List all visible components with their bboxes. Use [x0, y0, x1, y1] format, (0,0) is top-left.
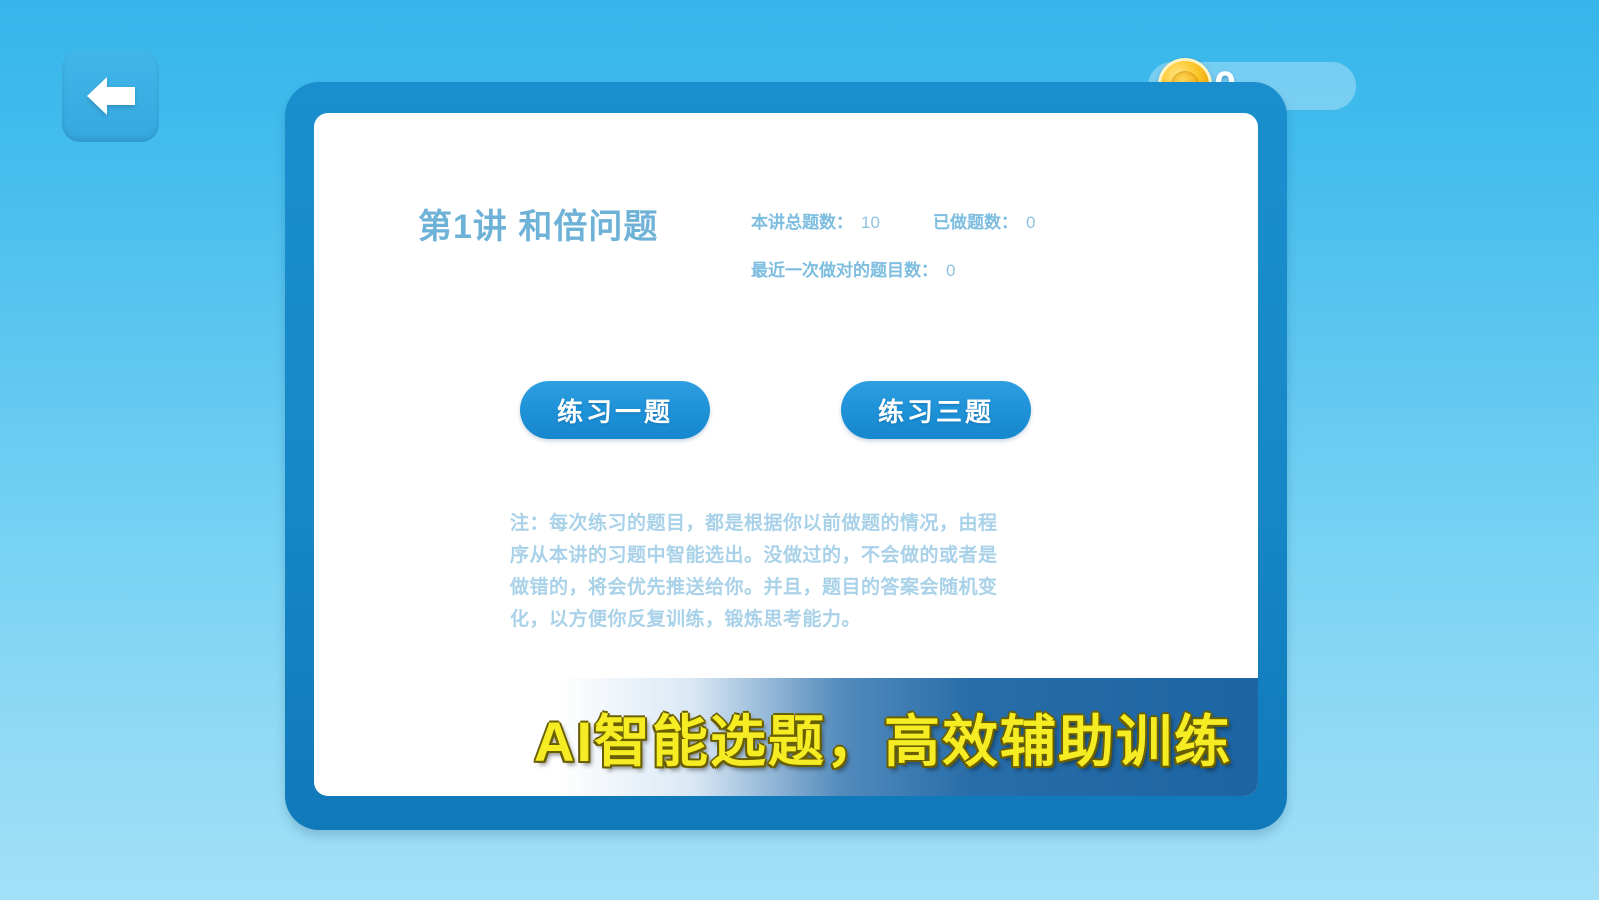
- promo-banner: AI智能选题，高效辅助训练: [314, 678, 1258, 796]
- stat-total-value: 10: [861, 213, 880, 232]
- promo-banner-text: AI智能选题，高效辅助训练: [534, 697, 1232, 778]
- practice-one-question-button[interactable]: 练习一题: [520, 381, 710, 439]
- stat-done-value: 0: [1026, 213, 1035, 232]
- stat-recent-correct: 最近一次做对的题目数：0: [751, 256, 955, 281]
- stat-recent-value: 0: [946, 261, 955, 280]
- arrow-left-icon: [83, 73, 139, 119]
- page-title: 第1讲 和倍问题: [418, 199, 658, 248]
- lesson-card: 第1讲 和倍问题 本讲总题数：10 已做题数：0 最近一次做对的题目数：0 练习…: [285, 82, 1287, 830]
- note-text: 注：每次练习的题目，都是根据你以前做题的情况，由程 序从本讲的习题中智能选出。没…: [510, 508, 1090, 636]
- back-button[interactable]: [62, 50, 159, 142]
- stat-total-label: 本讲总题数：: [751, 213, 853, 232]
- lesson-card-inner: 第1讲 和倍问题 本讲总题数：10 已做题数：0 最近一次做对的题目数：0 练习…: [314, 113, 1258, 796]
- stat-done-questions: 已做题数：0: [933, 208, 1035, 233]
- note-line: 做错的，将会优先推送给你。并且，题目的答案会随机变: [510, 572, 1090, 604]
- app-screen: 0 第1讲 和倍问题 本讲总题数：10 已做题数：0 最近一次做对的题目数：0 …: [0, 0, 1599, 900]
- stat-total-questions: 本讲总题数：10: [751, 208, 880, 233]
- note-line: 注：每次练习的题目，都是根据你以前做题的情况，由程: [510, 508, 1090, 540]
- stat-done-label: 已做题数：: [933, 213, 1018, 232]
- note-line: 序从本讲的习题中智能选出。没做过的，不会做的或者是: [510, 540, 1090, 572]
- note-line: 化，以方便你反复训练，锻炼思考能力。: [510, 604, 1090, 636]
- practice-three-questions-button[interactable]: 练习三题: [841, 381, 1031, 439]
- lesson-header: 第1讲 和倍问题 本讲总题数：10 已做题数：0 最近一次做对的题目数：0: [314, 199, 1258, 299]
- practice-buttons: 练习一题 练习三题: [314, 381, 1258, 445]
- stat-recent-label: 最近一次做对的题目数：: [751, 261, 938, 280]
